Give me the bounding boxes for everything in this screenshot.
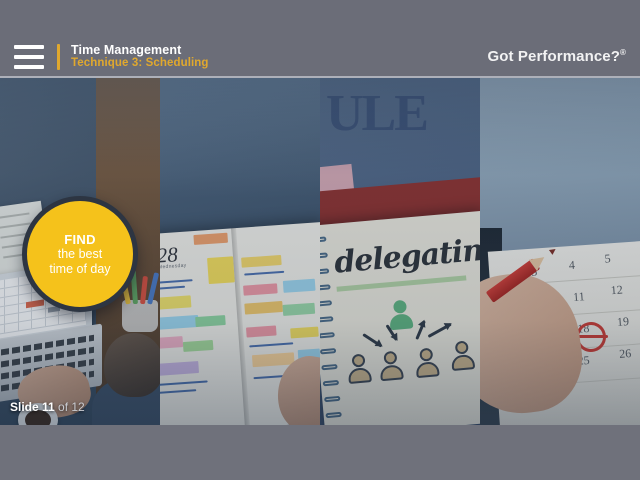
menu-bar-3 [14, 65, 44, 69]
org-figure-1 [346, 353, 371, 384]
slide-counter: Slide 11 of 12 [10, 400, 85, 414]
registered-trademark-icon: ® [620, 48, 626, 57]
header-divider [57, 44, 60, 70]
brand-text: Got Performance? [488, 48, 620, 65]
panel-eliminate[interactable]: 3 4 5 10 11 12 18 19 25 26 [480, 78, 640, 425]
footer-bar [0, 425, 640, 480]
app-header: Time Management Technique 3: Scheduling … [0, 0, 640, 78]
org-figure-4 [450, 340, 475, 371]
panel-strip: FIND the best time of day 28 Wednesday [0, 78, 640, 425]
hamburger-menu-icon[interactable] [14, 45, 44, 69]
photo-planner-notebook: 28 Wednesday [160, 78, 320, 425]
slide-counter-current: Slide 11 [10, 400, 55, 414]
bubble-find-keyword: FIND [64, 232, 96, 247]
header-title-block: Time Management Technique 3: Scheduling [71, 43, 209, 70]
planner-page-sub: Wednesday [160, 263, 187, 271]
pencil-cup [122, 300, 158, 332]
org-figure-leader [388, 299, 413, 330]
bubble-find-line2: the best [58, 247, 102, 262]
course-title: Time Management [71, 43, 209, 57]
org-figure-3 [414, 347, 439, 378]
panel-find[interactable]: FIND the best time of day [0, 78, 160, 425]
bubble-find[interactable]: FIND the best time of day [22, 196, 138, 312]
handwritten-delegating: delegatin [333, 233, 480, 281]
brand-logo: Got Performance?® [488, 48, 626, 65]
panel-delegate[interactable]: ULE delegatin [320, 78, 480, 425]
org-figure-2 [378, 350, 403, 381]
menu-bar-2 [14, 55, 44, 59]
photo-calendar-cross-out: 3 4 5 10 11 12 18 19 25 26 [480, 78, 640, 425]
photo-delegating-notepad: ULE delegatin [320, 78, 480, 425]
slide-viewer: Time Management Technique 3: Scheduling … [0, 0, 640, 480]
menu-bar-1 [14, 45, 44, 49]
panel-create[interactable]: 28 Wednesday [160, 78, 320, 425]
lesson-subtitle: Technique 3: Scheduling [71, 57, 209, 70]
bubble-find-line3: time of day [49, 262, 110, 277]
slide-counter-total: of 12 [55, 400, 85, 414]
